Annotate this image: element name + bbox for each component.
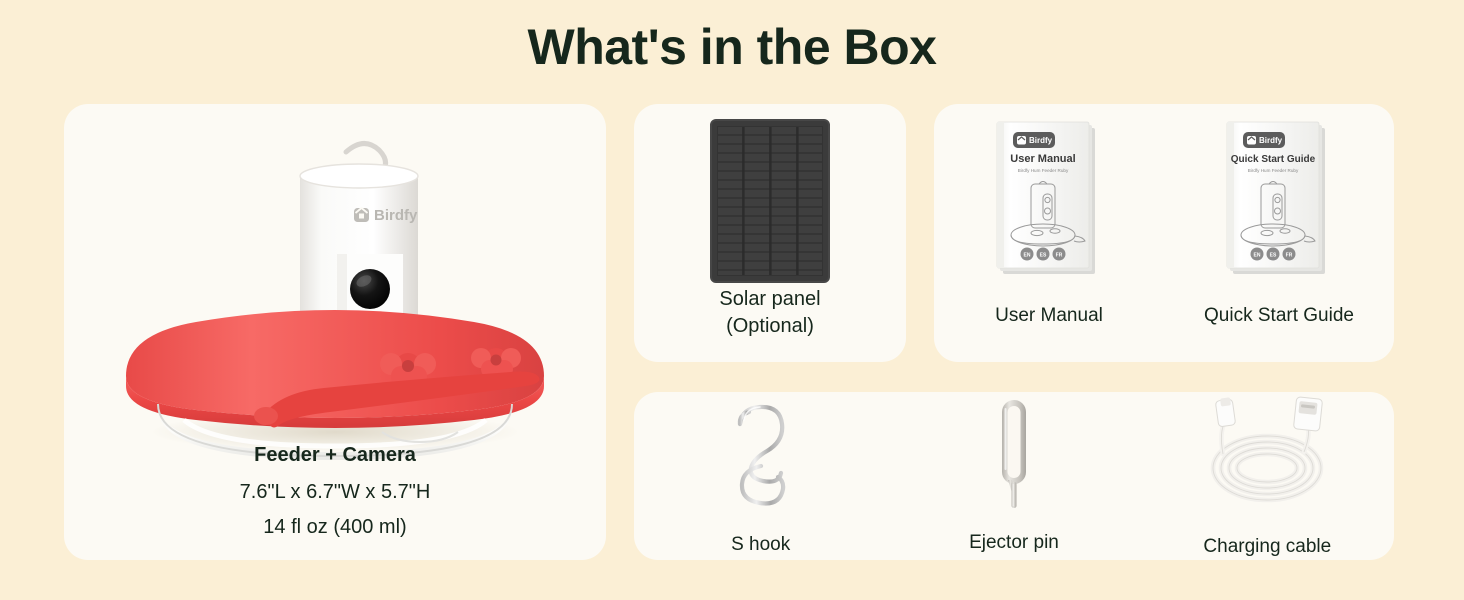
card-solar-panel: Solar panel (Optional) xyxy=(634,104,906,362)
svg-text:ES: ES xyxy=(1270,253,1277,259)
svg-text:FR: FR xyxy=(1056,253,1063,259)
user-manual-thumbnail: Birdfy User Manual Birdfy Hum Feeder Rub… xyxy=(991,118,1107,287)
svg-text:ES: ES xyxy=(1040,253,1047,259)
quick-start-guide-label: Quick Start Guide xyxy=(1204,303,1354,329)
solar-label-line2: (Optional) xyxy=(634,313,906,340)
page-title: What's in the Box xyxy=(0,18,1464,76)
svg-text:Birdfy Hum Feeder Ruby: Birdfy Hum Feeder Ruby xyxy=(1018,168,1069,173)
card-accessories: S hook xyxy=(634,392,1394,560)
svg-text:Birdfy Hum Feeder Ruby: Birdfy Hum Feeder Ruby xyxy=(1248,168,1299,173)
quick-start-guide-thumbnail: Birdfy Quick Start Guide Birdfy Hum Feed… xyxy=(1221,118,1337,287)
svg-text:Quick Start Guide: Quick Start Guide xyxy=(1231,154,1316,165)
charging-cable-label: Charging cable xyxy=(1203,534,1331,560)
svg-text:User Manual: User Manual xyxy=(1010,153,1075,165)
feeder-capacity-label: 14 fl oz (400 ml) xyxy=(64,514,606,541)
birdfy-house-logo-icon: Birdfy xyxy=(354,207,418,224)
charging-cable-icon xyxy=(1192,396,1342,512)
s-hook-icon xyxy=(716,400,806,508)
solar-panel-icon xyxy=(634,112,906,292)
accessory-charging-cable: Charging cable xyxy=(1141,392,1394,560)
product-contents-grid: Birdfy xyxy=(64,104,1394,560)
svg-text:Birdfy: Birdfy xyxy=(1259,136,1283,145)
ejector-pin-label: Ejector pin xyxy=(969,530,1059,556)
booklet-icon: Birdfy User Manual Birdfy Hum Feeder Rub… xyxy=(991,118,1107,282)
accessory-s-hook: S hook xyxy=(634,392,887,558)
card-feeder-camera: Birdfy xyxy=(64,104,606,560)
language-badges: EN ES FR xyxy=(1251,248,1296,261)
document-user-manual: Birdfy User Manual Birdfy Hum Feeder Rub… xyxy=(949,104,1149,329)
ejector-pin-icon xyxy=(984,396,1044,512)
svg-text:Birdfy: Birdfy xyxy=(1029,136,1053,145)
accessory-ejector-pin: Ejector pin xyxy=(887,392,1140,556)
language-badges: EN ES FR xyxy=(1021,248,1066,261)
feeder-name-label: Feeder + Camera xyxy=(64,442,606,469)
svg-text:EN: EN xyxy=(1254,253,1261,259)
card-documents: Birdfy User Manual Birdfy Hum Feeder Rub… xyxy=(934,104,1394,362)
svg-text:EN: EN xyxy=(1024,253,1031,259)
solar-caption: Solar panel (Optional) xyxy=(634,286,906,340)
feeder-dimensions-label: 7.6"L x 6.7"W x 5.7"H xyxy=(64,479,606,506)
solar-label-line1: Solar panel xyxy=(634,286,906,313)
whats-in-the-box-infographic: What's in the Box xyxy=(0,0,1464,600)
document-quick-start-guide: Birdfy Quick Start Guide Birdfy Hum Feed… xyxy=(1179,104,1379,329)
svg-text:Birdfy: Birdfy xyxy=(374,207,418,224)
feeder-caption: Feeder + Camera 7.6"L x 6.7"W x 5.7"H 14… xyxy=(64,442,606,549)
camera-dome-icon xyxy=(350,269,390,309)
solar-panel-image xyxy=(634,112,906,292)
svg-text:FR: FR xyxy=(1286,253,1293,259)
user-manual-label: User Manual xyxy=(995,303,1103,329)
s-hook-label: S hook xyxy=(731,532,790,558)
booklet-icon: Birdfy Quick Start Guide Birdfy Hum Feed… xyxy=(1221,118,1337,282)
